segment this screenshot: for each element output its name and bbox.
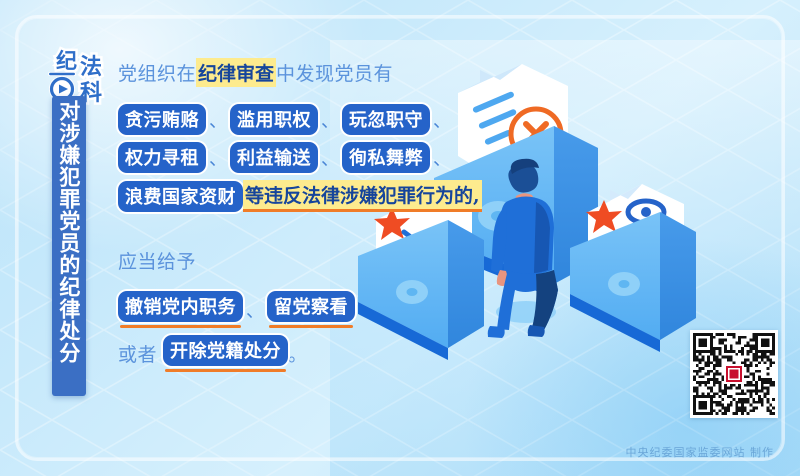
logo-char-ji-fill: 纪	[56, 48, 77, 73]
offences-row-1: 贪污贿赂 、 滥用职权 、 玩忽职守 、	[118, 104, 448, 135]
spacer-3	[118, 281, 448, 291]
line1-highlight: 纪律审查	[196, 58, 276, 87]
separator-7: 、	[243, 297, 267, 323]
separator-2: 、	[318, 107, 342, 133]
penalty-pill-1: 撤销党内职务	[118, 291, 243, 322]
offence-pill-4: 权力寻租	[118, 142, 206, 173]
ccdi-red-logo	[724, 364, 744, 384]
logo-char-fa-fill: 法	[80, 54, 102, 80]
footer-credit: 中央纪委国家监委网站 制作	[626, 444, 775, 460]
qr-code-matrix	[693, 333, 775, 415]
separator-3: 、	[430, 107, 454, 133]
separator-4: 、	[206, 145, 230, 171]
penalties-row-2: 或者 开除党籍处分 。	[118, 335, 448, 372]
row3-tail-highlight: 等违反法律涉嫌犯罪行为的,	[243, 180, 482, 212]
offence-pill-7: 浪费国家资财	[118, 181, 243, 212]
separator-1: 、	[206, 107, 230, 133]
offence-pill-2: 滥用职权	[230, 104, 318, 135]
final-period: 。	[288, 340, 308, 367]
vertical-title-banner: 对涉嫌犯罪党员的纪律处分	[52, 96, 86, 396]
shall-label: 应当给予	[118, 247, 196, 274]
vertical-title-text: 对涉嫌犯罪党员的纪律处分	[58, 100, 80, 364]
penalty-pill-2: 留党察看	[267, 291, 355, 322]
penalty-wrap-1: 撤销党内职务	[118, 291, 243, 328]
poster-canvas: 纪 纪 法 法 科 科 对涉嫌犯罪党员的纪律处分 党组织在 纪律审查 中发现党员…	[0, 0, 800, 476]
spacer-2	[118, 219, 448, 247]
offences-row-2: 权力寻租 、 利益输送 、 徇私舞弊 、	[118, 142, 448, 173]
penalty-pill-3: 开除党籍处分	[163, 335, 288, 366]
separator-5: 、	[318, 145, 342, 171]
body-copy: 党组织在 纪律审查 中发现党员有 贪污贿赂 、 滥用职权 、 玩忽职守 、 权力…	[118, 58, 448, 379]
penalty-wrap-3: 开除党籍处分	[163, 335, 288, 372]
offence-pill-1: 贪污贿赂	[118, 104, 206, 135]
line1-post: 中发现党员有	[276, 59, 393, 86]
offence-pill-6: 徇私舞弊	[342, 142, 430, 173]
copy-line-shall: 应当给予	[118, 247, 448, 274]
penalties-row-1: 撤销党内职务 、 留党察看	[118, 291, 448, 328]
offence-pill-5: 利益输送	[230, 142, 318, 173]
offences-row-3: 浪费国家资财 等违反法律涉嫌犯罪行为的,	[118, 180, 448, 212]
separator-6: 、	[430, 145, 454, 171]
copy-line-1: 党组织在 纪律审查 中发现党员有	[118, 58, 448, 87]
offence-pill-3: 玩忽职守	[342, 104, 430, 135]
or-label: 或者	[118, 340, 157, 367]
qr-code[interactable]	[690, 330, 778, 418]
spacer-1	[118, 94, 448, 104]
penalty-wrap-2: 留党察看	[267, 291, 355, 328]
line1-pre: 党组织在	[118, 59, 196, 86]
